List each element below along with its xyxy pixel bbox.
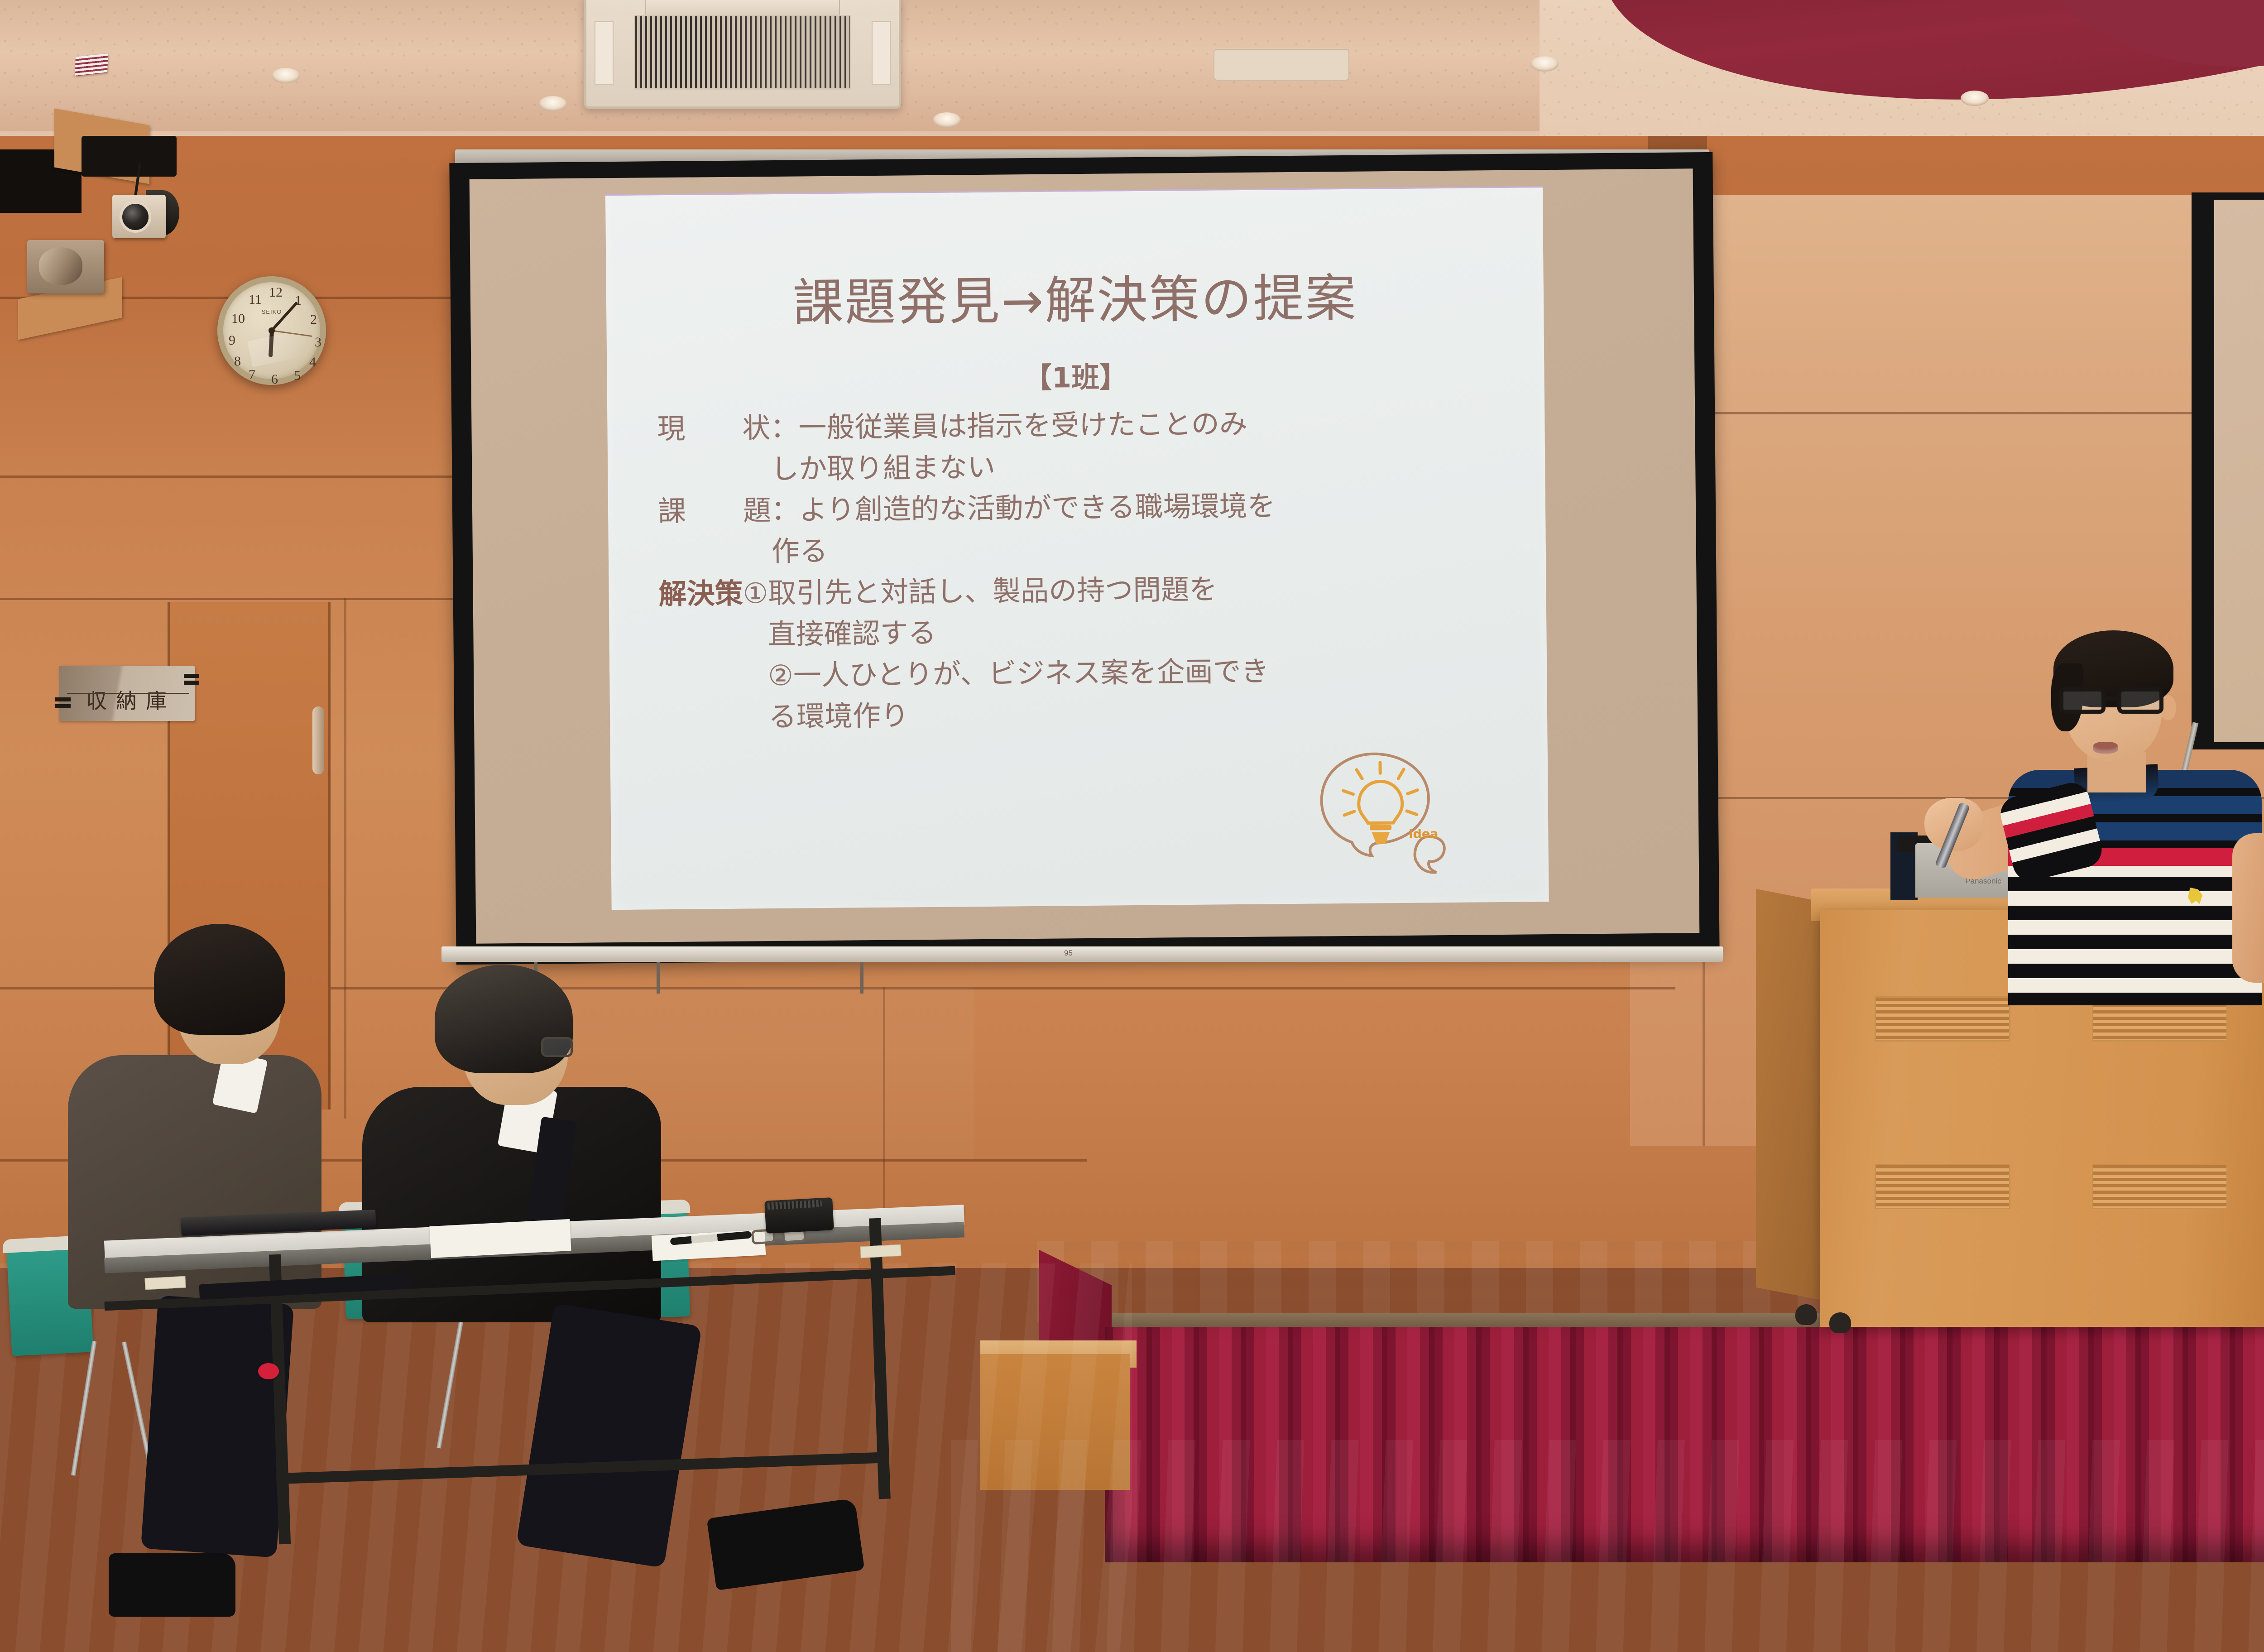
sign-clip-right (184, 674, 199, 687)
ac-grille (634, 15, 851, 90)
slide-row-4-sep: ① (743, 576, 768, 610)
ac-side-vent-right (872, 21, 891, 85)
slide-row-1-text: しか取り組まない (771, 451, 996, 485)
idea-label: idea (1409, 827, 1438, 841)
slide-row-0-sep: ： (770, 411, 799, 445)
slide-content: 課題発見→解決策の提案 【1班】 現 状：一般従業員は指示を受けたことのみ しか… (605, 187, 1549, 910)
observer-left-hair (154, 924, 285, 1035)
sign-clip-left (55, 697, 71, 711)
slide-row-4-text: 取引先と対話し、製品の持つ問題を (768, 572, 1218, 610)
observer-right-hair (435, 965, 573, 1073)
idea-lightbulb-icon: idea (1303, 741, 1454, 878)
observer-left-shoe (109, 1553, 235, 1617)
clock-numeral-12: 12 (269, 285, 283, 300)
clock-numeral-1: 1 (295, 293, 302, 308)
slide-title: 課題発見→解決策の提案 (606, 255, 1544, 337)
projected-slide: 課題発見→解決策の提案 【1班】 現 状：一般従業員は指示を受けたことのみ しか… (605, 186, 1549, 910)
projector-screen-bottom-bar (441, 946, 1723, 962)
presenter-mouth (2093, 742, 2118, 754)
security-camera-icon (112, 195, 166, 238)
slide-row-7-text: る環境作り (768, 699, 909, 733)
ceiling-panel-fixture (1214, 49, 1349, 81)
podium-vent-grille-1 (1875, 996, 2010, 1042)
clock-numeral-9: 9 (229, 333, 235, 348)
slide-row-7: る環境作り (660, 689, 1521, 738)
door-handle[interactable] (312, 706, 324, 774)
presenter-eyeglasses-icon (2059, 687, 2173, 716)
slide-row-2-sep: ： (771, 494, 800, 527)
hall-floor-right (951, 1440, 2264, 1652)
slide-row-2-label: 課 題 (658, 490, 772, 532)
clock-glass-glare (247, 330, 306, 367)
podium-vent-grille-4 (2092, 1164, 2228, 1209)
screen-tag-label: 95 (1064, 949, 1073, 958)
clock-minute-hand (271, 302, 298, 331)
eyeglass-bridge (2106, 696, 2117, 701)
clock-face: SEIKO 12 1 2 3 4 5 6 7 8 9 10 11 (223, 282, 320, 379)
projector-screen-canvas: 課題発見→解決策の提案 【1班】 現 状：一般従業員は指示を受けたことのみ しか… (470, 168, 1700, 944)
clock-numeral-5: 5 (294, 368, 301, 384)
slide-group-label: 【1班】 (607, 351, 1545, 399)
podium-caster-2 (1829, 1312, 1851, 1333)
presentation-hall-photo: 収納庫 SEIKO 12 1 2 3 4 5 6 7 8 9 10 11 (0, 0, 2264, 1652)
eyeglass-lens-right (2117, 687, 2163, 714)
table-asset-sticker-right (860, 1244, 901, 1258)
storage-room-sign: 収納庫 (59, 666, 195, 721)
ac-side-vent-left (595, 21, 614, 85)
slide-row-0-text: 一般従業員は指示を受けたことのみ (798, 407, 1247, 444)
ac-air-flap (645, 0, 840, 17)
clock-numeral-4: 4 (309, 355, 316, 370)
clock-numeral-11: 11 (249, 292, 262, 307)
table-asset-sticker-left (144, 1276, 186, 1290)
speaker-cone-icon (39, 247, 82, 285)
eyeglass-lens-left (2059, 687, 2106, 714)
slide-row-6: ②一人ひとりが、ビジネス案を企画でき (659, 648, 1520, 697)
slide-row-4: 解決策①取引先と対話し、製品の持つ問題を (658, 566, 1519, 615)
clock-numeral-3: 3 (315, 335, 321, 350)
observer-right-eyeglasses-icon (541, 1037, 573, 1057)
wall-clock: SEIKO 12 1 2 3 4 5 6 7 8 9 10 11 (217, 276, 326, 385)
slide-row-2-text: より創造的な活動ができる職場環境を (799, 490, 1276, 527)
screen-leg-2 (657, 962, 660, 994)
slide-row-5: 直接確認する (659, 607, 1520, 656)
slide-row-4-label: 解決策 (658, 572, 743, 615)
slide-row-3: 作る (658, 524, 1519, 573)
slide-row-2: 課 題：より創造的な活動ができる職場環境を (658, 483, 1519, 532)
screen-leg-3 (860, 962, 863, 994)
slide-row-6-text: 一人ひとりが、ビジネス案を企画でき (793, 654, 1270, 692)
slide-row-6-sep: ② (768, 658, 793, 692)
camera-power-adapter (82, 136, 177, 177)
clock-center-pin (269, 327, 275, 334)
slide-row-5-text: 直接確認する (767, 616, 936, 650)
clock-numeral-10: 10 (231, 311, 245, 327)
clock-decor-flag (75, 53, 108, 76)
downlight-icon-4 (1961, 91, 1989, 106)
downlight-icon-2 (933, 112, 961, 128)
clock-numeral-6: 6 (271, 372, 278, 387)
clock-numeral-8: 8 (234, 354, 241, 369)
slide-row-3-text: 作る (772, 534, 828, 568)
downlight-icon-7 (272, 68, 300, 83)
podium-vent-grille-2 (1875, 1164, 2010, 1209)
table-recorder-device[interactable] (764, 1197, 834, 1234)
clock-numeral-2: 2 (310, 312, 317, 327)
table-height-knob[interactable] (258, 1363, 279, 1379)
camera-lens-icon (120, 201, 151, 233)
ceiling-ac-cassette-icon (584, 0, 901, 109)
downlight-icon-3 (1530, 56, 1559, 72)
downlight-icon-1 (539, 96, 567, 111)
podium-caster-1 (1795, 1304, 1817, 1325)
clock-numeral-7: 7 (249, 367, 255, 383)
wall-seam-right-1 (1675, 412, 2264, 414)
slide-body: 現 状：一般従業員は指示を受けたことのみ しか取り組まない 課 題：より創造的な… (657, 401, 1520, 739)
secondary-projector-screen-frame: 現 状 課 題 解決策 (2192, 192, 2264, 749)
presenter-right-arm (2232, 833, 2264, 983)
observer-left-leg (141, 1295, 294, 1558)
projector-screen-frame: 課題発見→解決策の提案 【1班】 現 状：一般従業員は指示を受けたことのみ しか… (449, 152, 1719, 965)
device-grille (767, 1200, 822, 1210)
wall-vseam-1 (344, 598, 346, 1119)
storage-sign-label: 収納庫 (78, 685, 176, 721)
slide-row-0: 現 状：一般従業員は指示を受けたことのみ (657, 401, 1518, 450)
clock-brand-label: SEIKO (262, 308, 282, 315)
secondary-screen-canvas: 現 状 課 題 解決策 (2214, 200, 2264, 742)
podium-left-face (1756, 889, 1824, 1301)
slide-row-1: しか取り組まない (657, 442, 1518, 491)
wall-speaker-icon (27, 240, 104, 293)
slide-row-0-label: 現 状 (657, 407, 771, 449)
